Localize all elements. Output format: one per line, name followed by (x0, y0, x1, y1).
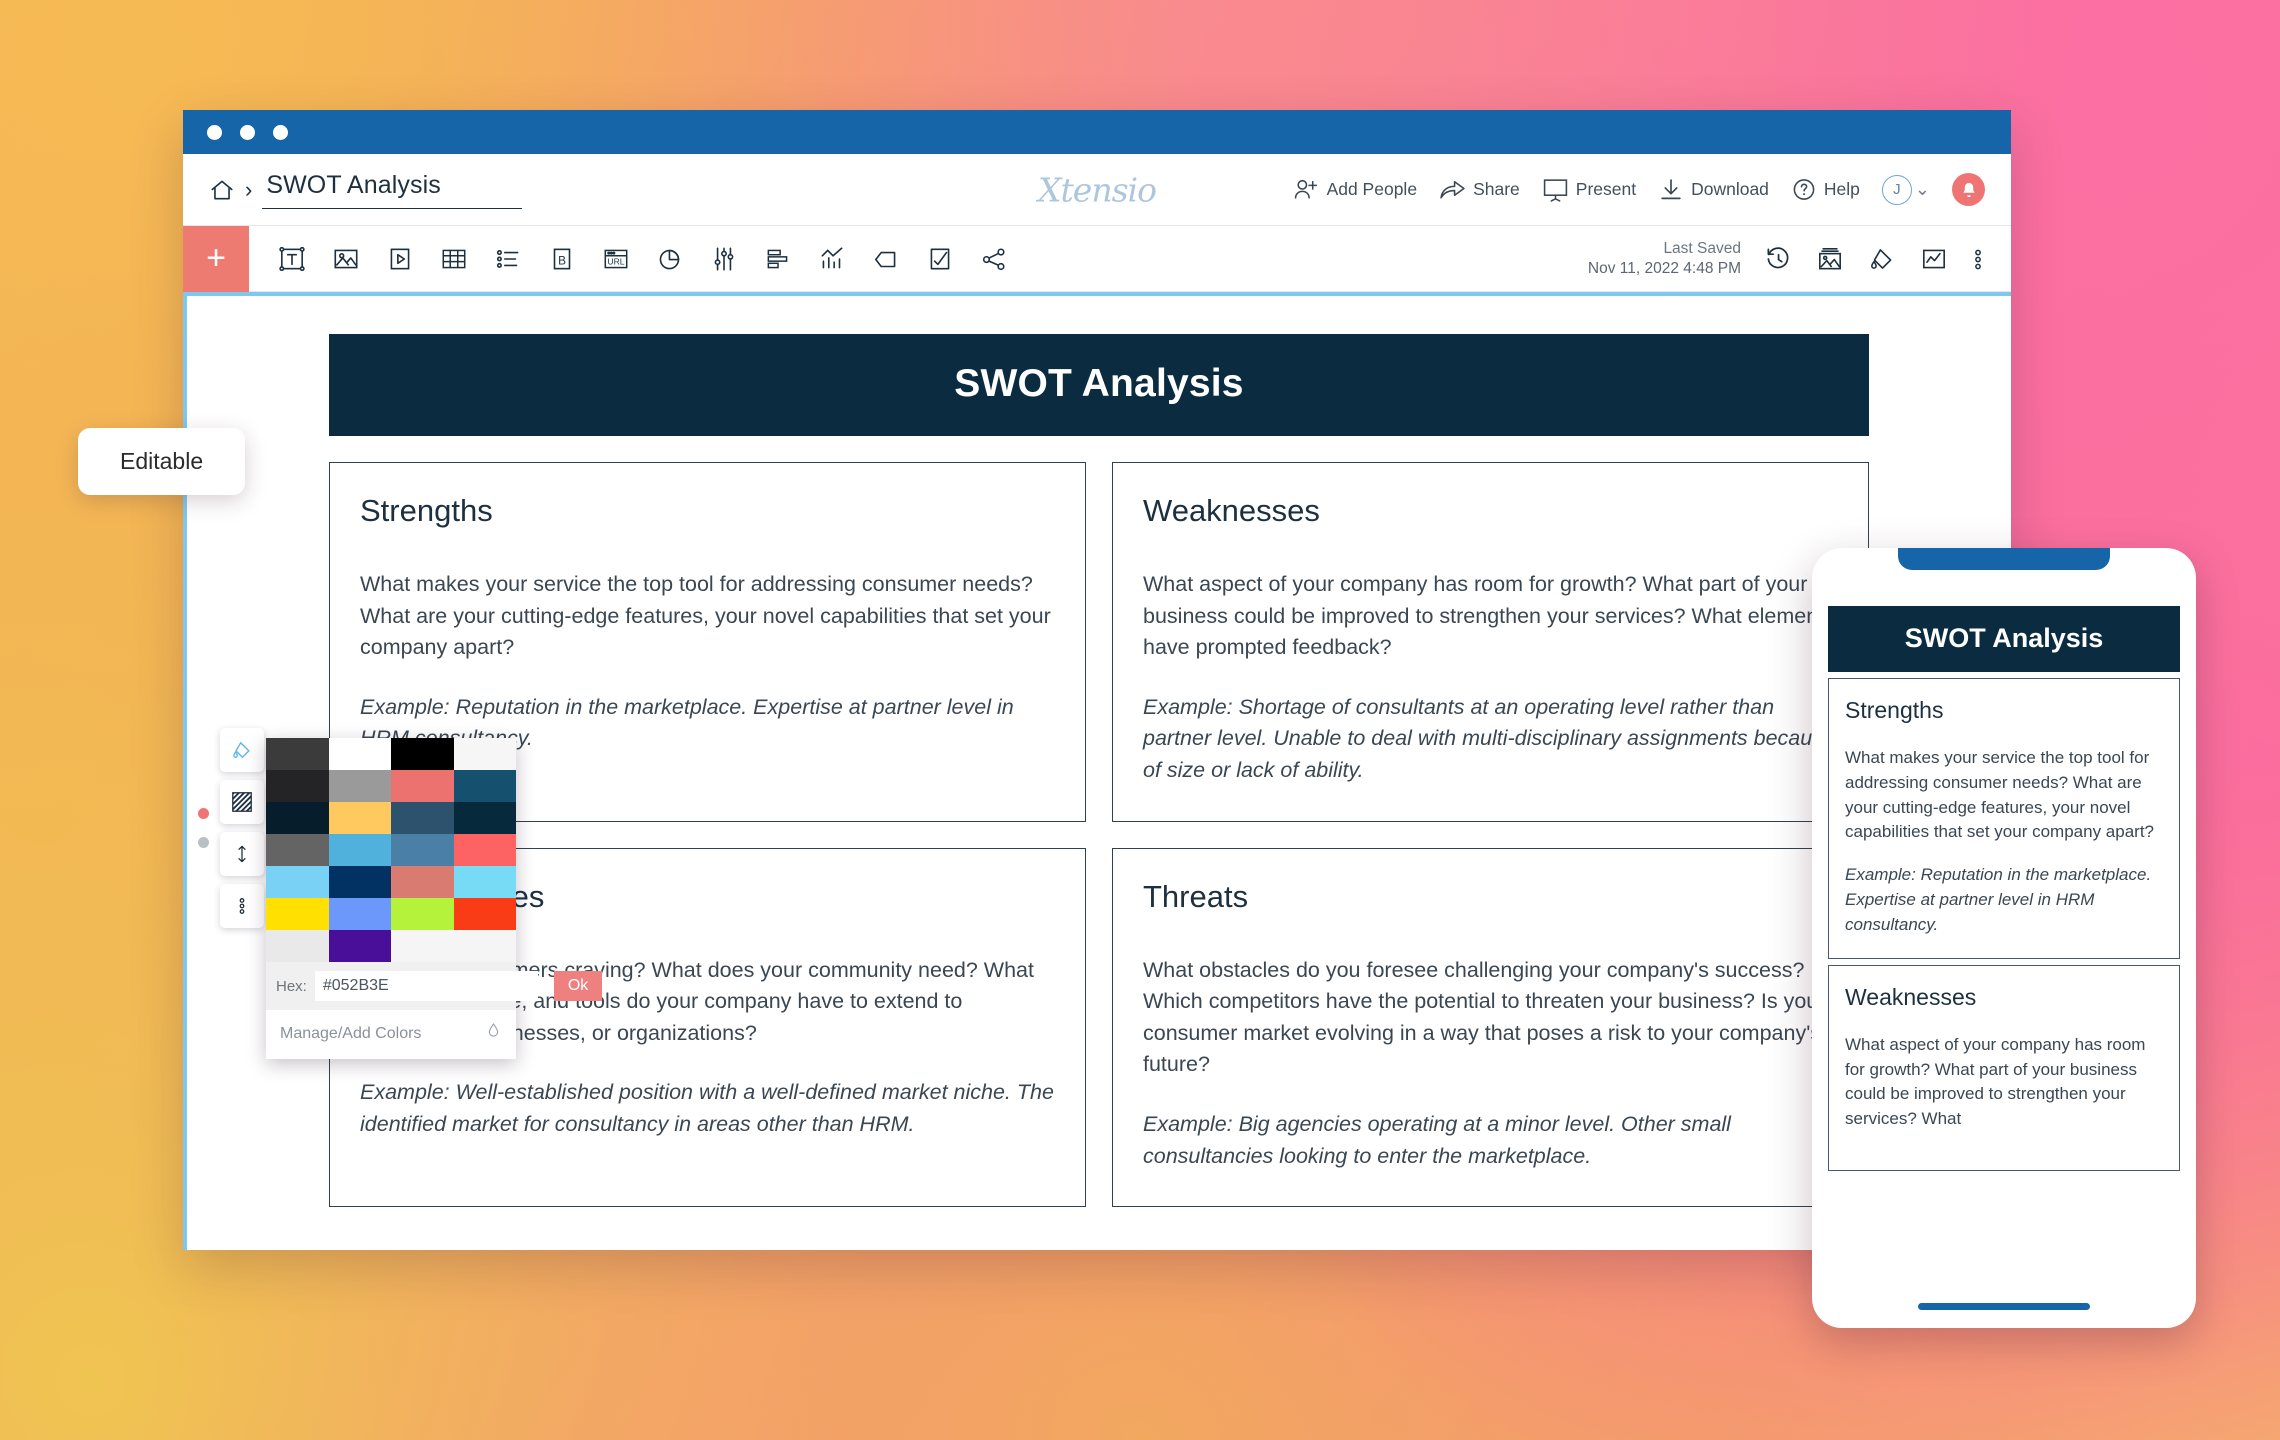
color-swatch[interactable] (454, 898, 517, 930)
color-swatch-empty (454, 930, 517, 962)
droplet-icon[interactable] (485, 1021, 502, 1046)
color-picker-popup[interactable]: Hex: Ok Manage/Add Colors (266, 738, 516, 1059)
color-swatch[interactable] (391, 898, 454, 930)
mobile-card-weaknesses[interactable]: Weaknesses What aspect of your company h… (1828, 965, 2180, 1171)
add-element-button[interactable]: + (183, 226, 249, 292)
table-icon[interactable] (439, 244, 469, 274)
color-swatch[interactable] (266, 834, 329, 866)
mobile-card-strengths[interactable]: Strengths What makes your service the to… (1828, 678, 2180, 959)
active-dot[interactable] (198, 808, 209, 819)
color-swatch[interactable] (391, 866, 454, 898)
color-swatch[interactable] (329, 738, 392, 770)
download-label: Download (1691, 179, 1769, 200)
button-icon[interactable]: B (547, 244, 577, 274)
svg-text:URL: URL (607, 256, 624, 266)
history-clock-icon[interactable] (1763, 244, 1793, 274)
paint-bucket-icon[interactable] (220, 728, 264, 772)
add-person-icon (1293, 177, 1320, 202)
sheet-title[interactable]: SWOT Analysis (329, 334, 1869, 436)
paint-bucket-icon[interactable] (1867, 244, 1897, 274)
help-label: Help (1824, 179, 1860, 200)
chart-line-icon[interactable] (1919, 244, 1949, 274)
inactive-dot[interactable] (198, 837, 209, 848)
document-title-input[interactable]: SWOT Analysis (262, 171, 522, 209)
swatch-grid (266, 738, 516, 962)
share-arrow-icon (1439, 178, 1466, 201)
height-resize-icon[interactable] (220, 832, 264, 876)
bell-icon[interactable] (1952, 173, 1985, 206)
image-icon[interactable] (331, 244, 361, 274)
quadrant-threats[interactable]: Threats What obstacles do you foresee ch… (1112, 848, 1869, 1208)
color-swatch[interactable] (391, 770, 454, 802)
quadrant-example[interactable]: Example: Big agencies operating at a min… (1143, 1109, 1838, 1172)
color-swatch[interactable] (266, 738, 329, 770)
color-swatch[interactable] (266, 802, 329, 834)
color-swatch[interactable] (391, 738, 454, 770)
url-embed-icon[interactable]: URL (601, 244, 631, 274)
download-icon (1658, 177, 1684, 202)
chevron-down-icon: ⌄ (1915, 184, 1930, 195)
window-dot-minimize[interactable] (240, 125, 255, 140)
quadrant-body[interactable]: What obstacles do you foresee challengin… (1143, 955, 1838, 1081)
color-swatch[interactable] (329, 770, 392, 802)
color-swatch[interactable] (454, 802, 517, 834)
tag-icon[interactable] (871, 244, 901, 274)
video-icon[interactable] (385, 244, 415, 274)
swot-sheet: SWOT Analysis Strengths What makes your … (329, 334, 1869, 1207)
more-vertical-icon[interactable] (1971, 244, 1987, 274)
quadrant-weaknesses[interactable]: Weaknesses What aspect of your company h… (1112, 462, 1869, 822)
last-saved-time: Nov 11, 2022 4:48 PM (1588, 259, 1741, 279)
last-saved: Last Saved Nov 11, 2022 4:48 PM (1588, 239, 1741, 279)
last-saved-label: Last Saved (1588, 239, 1741, 259)
present-button[interactable]: Present (1542, 177, 1636, 202)
mobile-card-body: What makes your service the top tool for… (1845, 746, 2163, 845)
phone-notch (1898, 548, 2110, 570)
xtensio-logo: Xtensio (1038, 170, 1156, 209)
window-titlebar (183, 110, 2011, 154)
hex-input[interactable] (315, 971, 538, 1001)
chart-stats-icon[interactable] (817, 244, 847, 274)
quadrant-heading[interactable]: Weaknesses (1143, 493, 1838, 529)
color-swatch[interactable] (329, 834, 392, 866)
ok-button[interactable]: Ok (554, 971, 602, 1001)
pattern-fill-icon[interactable] (220, 780, 264, 824)
share-node-icon[interactable] (979, 244, 1009, 274)
share-button[interactable]: Share (1439, 178, 1520, 201)
text-box-icon[interactable] (277, 244, 307, 274)
svg-text:B: B (558, 254, 566, 267)
color-swatch[interactable] (454, 834, 517, 866)
mobile-card-body: What aspect of your company has room for… (1845, 1033, 2163, 1132)
mobile-preview: SWOT Analysis Strengths What makes your … (1812, 548, 2196, 1328)
rail-dots (198, 808, 209, 866)
mobile-title: SWOT Analysis (1828, 606, 2180, 672)
toolbar-right: Last Saved Nov 11, 2022 4:48 PM (1588, 239, 2011, 279)
bar-compare-icon[interactable] (763, 244, 793, 274)
add-people-label: Add People (1327, 179, 1418, 200)
avatar: J (1882, 175, 1912, 205)
color-swatch[interactable] (329, 866, 392, 898)
add-people-button[interactable]: Add People (1293, 177, 1418, 202)
hex-row: Hex: Ok (266, 962, 516, 1010)
list-icon[interactable] (493, 244, 523, 274)
user-menu[interactable]: J ⌄ (1882, 175, 1930, 205)
hex-label: Hex: (276, 978, 307, 995)
window-dot-close[interactable] (207, 125, 222, 140)
color-swatch[interactable] (329, 898, 392, 930)
background-image-icon[interactable] (1815, 244, 1845, 274)
quadrant-body[interactable]: What aspect of your company has room for… (1143, 569, 1838, 664)
signature-icon[interactable] (925, 244, 955, 274)
present-screen-icon (1542, 177, 1569, 202)
color-swatch[interactable] (329, 802, 392, 834)
color-swatch[interactable] (266, 770, 329, 802)
breadcrumb-separator: › (245, 179, 252, 201)
editable-tooltip: Editable (78, 428, 245, 495)
question-circle-icon (1791, 177, 1817, 202)
color-swatch[interactable] (329, 930, 392, 962)
more-vertical-icon[interactable] (220, 884, 264, 928)
help-button[interactable]: Help (1791, 177, 1860, 202)
app-header: › SWOT Analysis Xtensio Add People (183, 154, 2011, 226)
share-label: Share (1473, 179, 1520, 200)
window-dot-maximize[interactable] (273, 125, 288, 140)
tool-list: B URL (249, 244, 1009, 274)
editor-toolbar: + B URL (183, 226, 2011, 292)
browser-window: › SWOT Analysis Xtensio Add People (183, 110, 2011, 1250)
color-swatch[interactable] (454, 770, 517, 802)
manage-colors-label: Manage/Add Colors (280, 1025, 421, 1043)
quadrant-heading[interactable]: Strengths (360, 493, 1055, 529)
mobile-card-heading: Weaknesses (1845, 984, 2163, 1011)
color-swatch[interactable] (266, 866, 329, 898)
quadrant-heading[interactable]: Threats (1143, 879, 1838, 915)
color-swatch[interactable] (266, 898, 329, 930)
mobile-card-example: Example: Reputation in the marketplace. … (1845, 863, 2163, 937)
sliders-icon[interactable] (709, 244, 739, 274)
color-swatch-empty (391, 930, 454, 962)
manage-colors-row[interactable]: Manage/Add Colors (266, 1010, 516, 1059)
download-button[interactable]: Download (1658, 177, 1769, 202)
breadcrumb: › SWOT Analysis (183, 171, 522, 209)
mobile-card-heading: Strengths (1845, 697, 2163, 724)
color-swatch[interactable] (454, 738, 517, 770)
color-swatch[interactable] (266, 930, 329, 962)
pie-chart-icon[interactable] (655, 244, 685, 274)
home-icon[interactable] (209, 177, 235, 203)
swot-grid: Strengths What makes your service the to… (329, 436, 1869, 1207)
quadrant-example[interactable]: Example: Shortage of consultants at an o… (1143, 692, 1838, 787)
color-swatch[interactable] (454, 866, 517, 898)
present-label: Present (1576, 179, 1636, 200)
phone-home-indicator (1918, 1303, 2090, 1310)
quadrant-example[interactable]: Example: Well-established position with … (360, 1077, 1055, 1140)
color-swatch[interactable] (391, 834, 454, 866)
quadrant-body[interactable]: What makes your service the top tool for… (360, 569, 1055, 664)
element-mini-toolbar (220, 728, 264, 928)
color-swatch[interactable] (391, 802, 454, 834)
header-actions: Add People Share Present (1293, 173, 2011, 206)
